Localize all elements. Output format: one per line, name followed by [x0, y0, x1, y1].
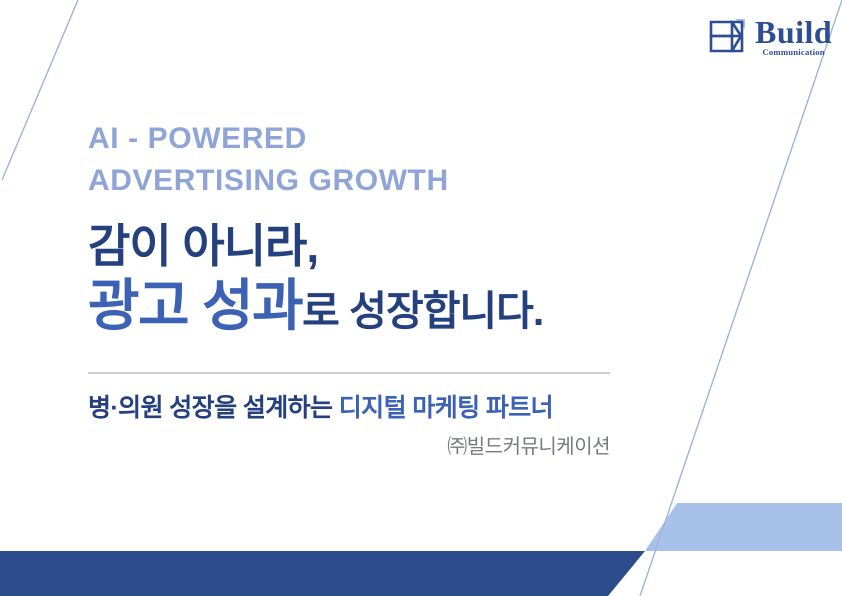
- brand-logo: Build Communication: [708, 16, 828, 66]
- subtitle-lead: 병·의원 성장을 설계하는: [88, 394, 339, 422]
- headline-line-1: 감이 아니라,: [88, 218, 728, 274]
- eyebrow-line-1: AI - POWERED: [88, 118, 728, 160]
- build-b-monogram-icon: [708, 17, 748, 57]
- company-name: ㈜빌드커뮤니케이션: [88, 434, 610, 460]
- bottom-navy-band: [0, 551, 645, 596]
- slide-canvas: Build Communication AI - POWERED ADVERTI…: [0, 0, 842, 596]
- headline-line-2: 광고 성과로 성장합니다.: [88, 275, 728, 352]
- light-blue-band: [645, 503, 842, 551]
- subtitle-accent: 디지털 마케팅 파트너: [339, 394, 553, 422]
- headline-accent: 광고 성과: [88, 274, 302, 337]
- eyebrow-text: AI - POWERED ADVERTISING GROWTH: [88, 118, 728, 202]
- eyebrow-line-2: ADVERTISING GROWTH: [88, 160, 728, 202]
- logo-word: Build: [755, 16, 832, 48]
- content-column: AI - POWERED ADVERTISING GROWTH 감이 아니라, …: [88, 118, 728, 460]
- diagonal-hairline-left: [2, 0, 78, 180]
- subtitle: 병·의원 성장을 설계하는 디지털 마케팅 파트너: [88, 392, 728, 424]
- headline: 감이 아니라, 광고 성과로 성장합니다.: [88, 218, 728, 352]
- section-divider: [88, 372, 610, 374]
- logo-tagline: Communication: [762, 47, 824, 57]
- headline-rest: 로 성장합니다.: [302, 288, 543, 334]
- logo-wordmark: Build Communication: [755, 16, 832, 57]
